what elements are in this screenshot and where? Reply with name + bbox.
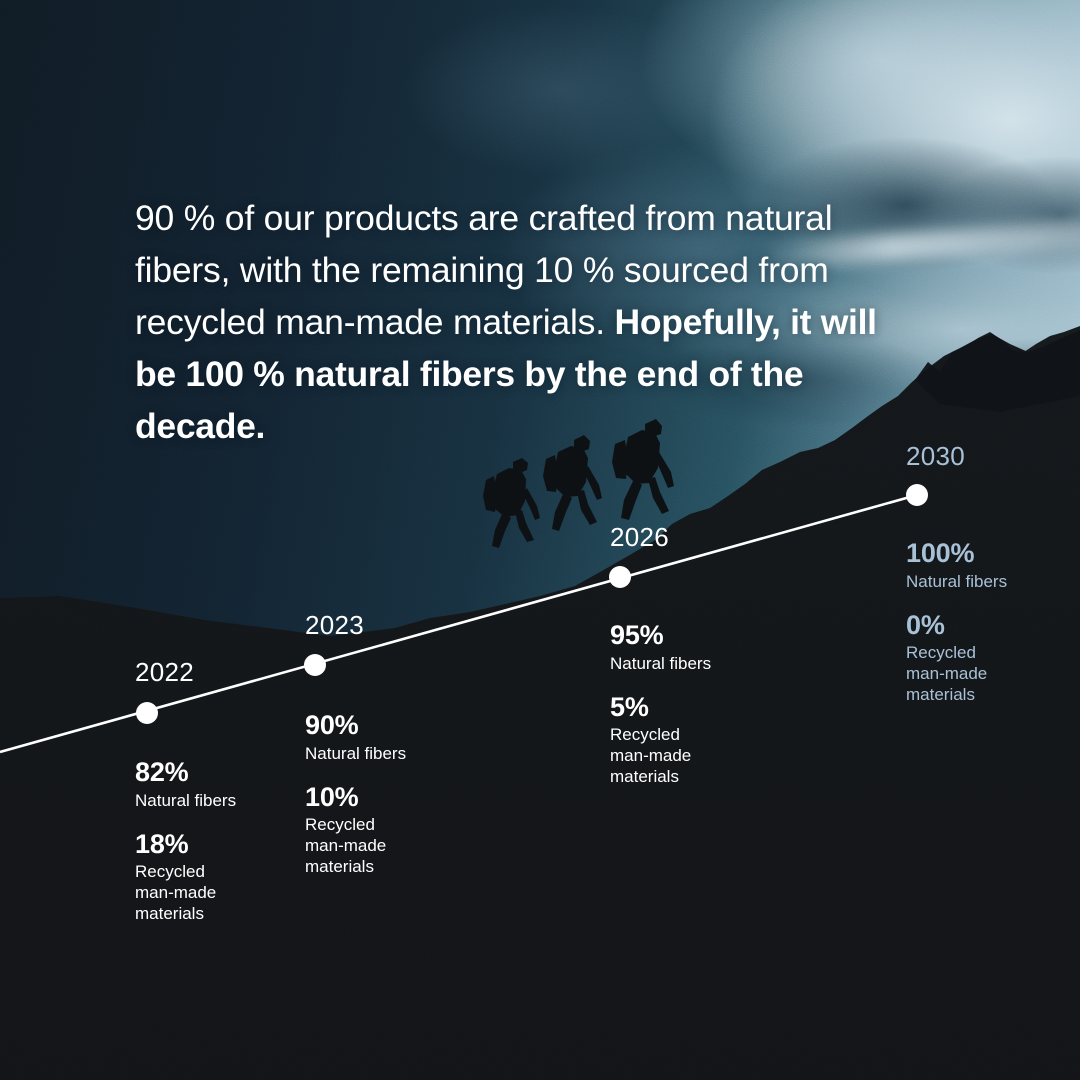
natural-fibers-value: 95% bbox=[610, 620, 722, 652]
milestone-values: 82% Natural fibers 18% Recycled man-made… bbox=[135, 757, 247, 925]
value-spacer bbox=[906, 593, 1018, 610]
natural-fibers-label: Natural fibers bbox=[305, 744, 417, 765]
recycled-label: Recycled man-made materials bbox=[906, 643, 1018, 705]
milestone-year-label: 2023 bbox=[305, 610, 364, 641]
milestone-dot-2030 bbox=[906, 484, 928, 506]
natural-fibers-value: 90% bbox=[305, 710, 417, 742]
recycled-label: Recycled man-made materials bbox=[610, 725, 722, 787]
milestone-values: 95% Natural fibers 5% Recycled man-made … bbox=[610, 620, 722, 788]
recycled-value: 18% bbox=[135, 829, 247, 861]
recycled-value: 10% bbox=[305, 782, 417, 814]
milestone-year-label: 2026 bbox=[610, 522, 669, 553]
recycled-label: Recycled man-made materials bbox=[305, 815, 417, 877]
recycled-value: 5% bbox=[610, 692, 722, 724]
natural-fibers-value: 100% bbox=[906, 538, 1018, 570]
natural-fibers-value: 82% bbox=[135, 757, 247, 789]
milestone-year-label: 2022 bbox=[135, 657, 194, 688]
infographic-poster: 90 % of our products are crafted from na… bbox=[0, 0, 1080, 1080]
value-spacer bbox=[305, 765, 417, 782]
value-spacer bbox=[135, 812, 247, 829]
natural-fibers-label: Natural fibers bbox=[906, 572, 1018, 593]
milestone-values: 90% Natural fibers 10% Recycled man-made… bbox=[305, 710, 417, 878]
milestone-dot-2023 bbox=[304, 654, 326, 676]
recycled-label: Recycled man-made materials bbox=[135, 862, 247, 924]
milestone-dot-2026 bbox=[609, 566, 631, 588]
recycled-value: 0% bbox=[906, 610, 1018, 642]
milestone-values: 100% Natural fibers 0% Recycled man-made… bbox=[906, 538, 1018, 706]
value-spacer bbox=[610, 675, 722, 692]
milestone-year-label: 2030 bbox=[906, 441, 965, 472]
natural-fibers-label: Natural fibers bbox=[610, 654, 722, 675]
milestone-dot-2022 bbox=[136, 702, 158, 724]
natural-fibers-label: Natural fibers bbox=[135, 791, 247, 812]
